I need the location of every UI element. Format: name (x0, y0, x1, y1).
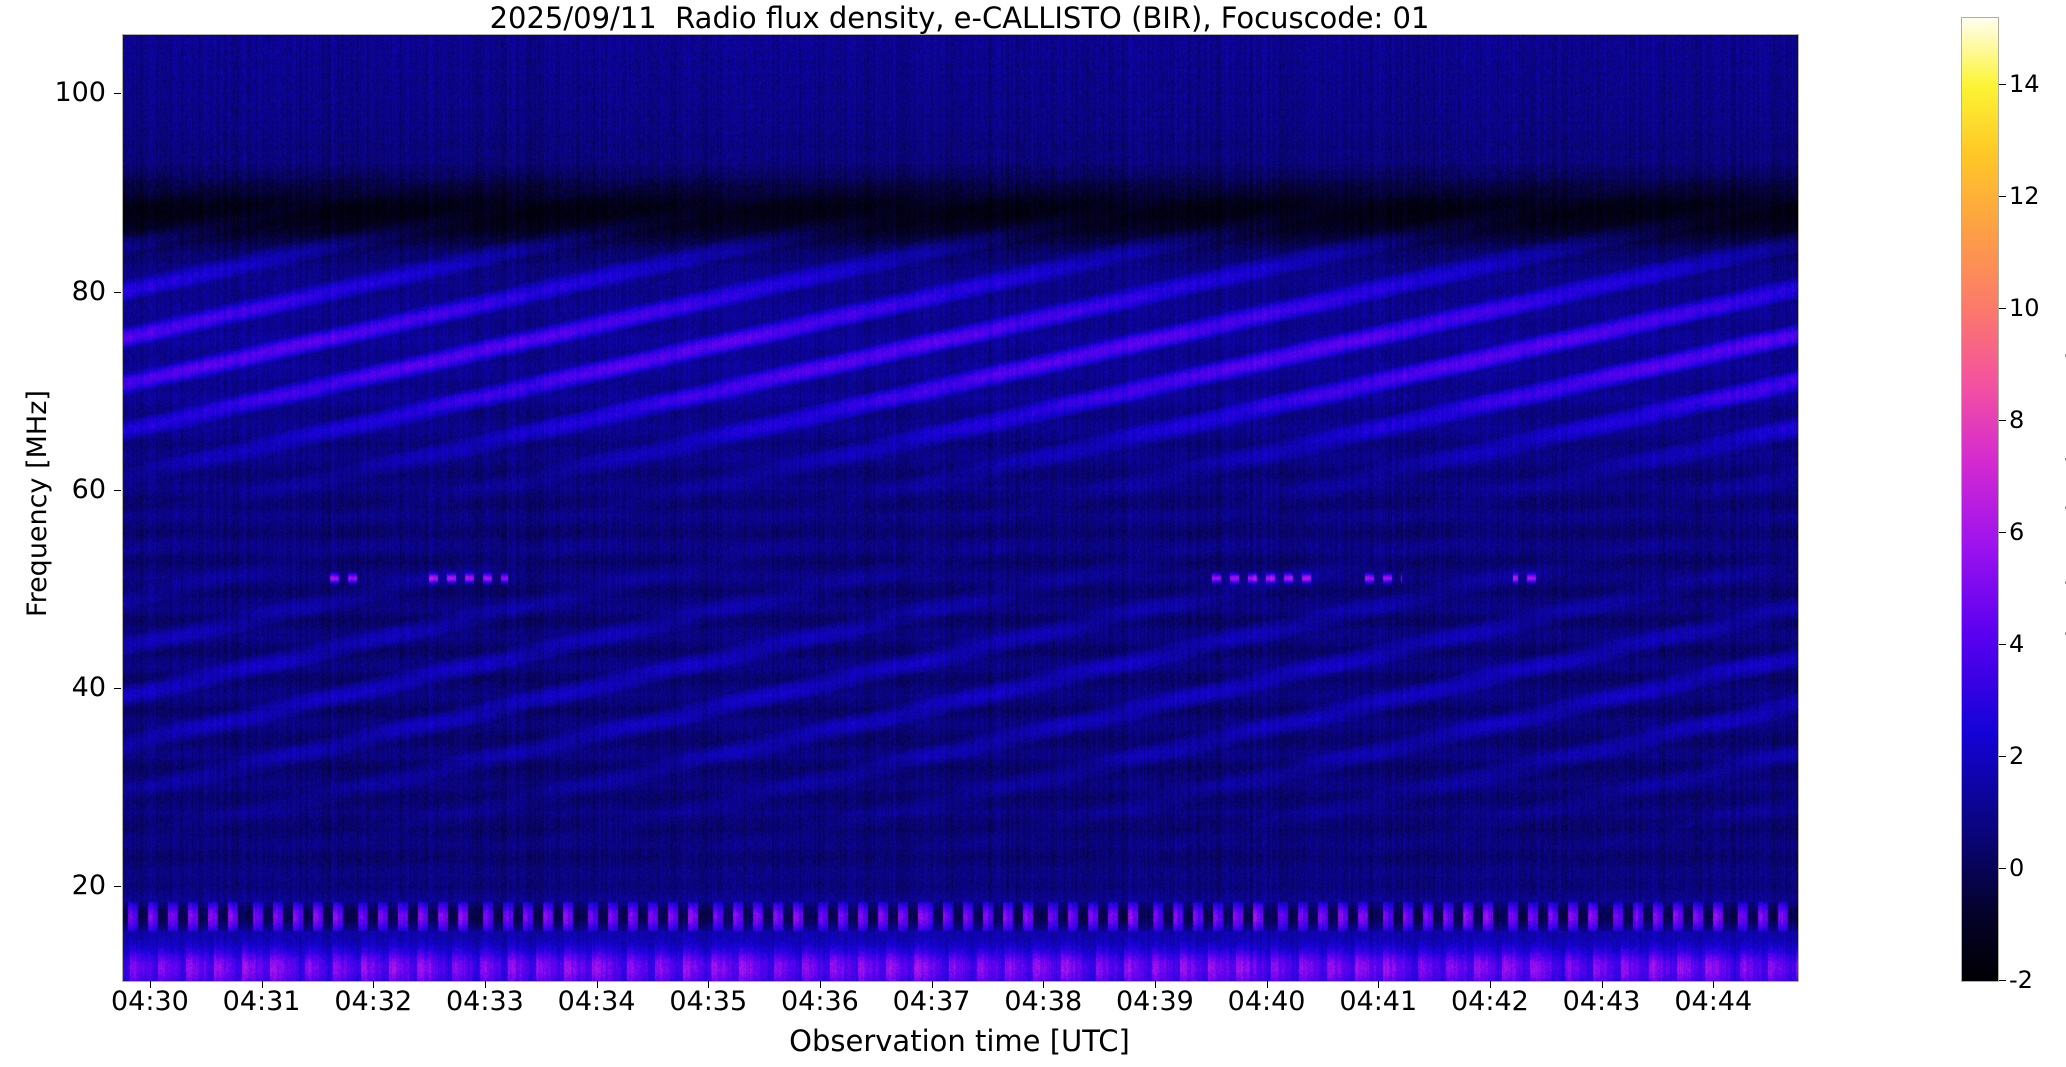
colorbar-tick-mark (1999, 196, 2006, 197)
colorbar-tick-mark (1999, 84, 2006, 85)
y-axis-tick-mark (114, 292, 121, 293)
colorbar-tick-mark (1999, 420, 2006, 421)
colorbar-tick-mark (1999, 532, 2006, 533)
colorbar-tick-label: 14 (2009, 72, 2040, 96)
y-axis-tick-mark (114, 93, 121, 94)
figure-canvas: 2025/09/11 Radio flux density, e-CALLIST… (0, 0, 2066, 1067)
colorbar-tick-label: 10 (2009, 296, 2040, 320)
colorbar-tick-mark (1999, 308, 2006, 309)
colorbar-tick-mark (1999, 644, 2006, 645)
colorbar-tick-label: -2 (2009, 968, 2033, 992)
y-axis-tick-label: 40 (40, 674, 106, 701)
y-axis-tick-label: 80 (40, 278, 106, 305)
colorbar-tick-label: 8 (2009, 408, 2024, 432)
x-axis-tick-label: 04:44 (1643, 988, 1783, 1016)
colorbar-tick-label: 4 (2009, 632, 2024, 656)
page-title: 2025/09/11 Radio flux density, e-CALLIST… (122, 2, 1797, 34)
y-axis-tick-mark (114, 688, 121, 689)
spectrogram-plot-area[interactable] (122, 34, 1799, 982)
y-axis-tick-mark (114, 490, 121, 491)
colorbar-gradient (1962, 18, 1998, 981)
y-axis-tick-label: 100 (40, 79, 106, 106)
y-axis-label: Frequency [MHz] (22, 390, 53, 617)
x-axis-label: Observation time [UTC] (122, 1024, 1797, 1058)
colorbar-tick-label: 0 (2009, 856, 2024, 880)
spectrogram-image[interactable] (123, 35, 1798, 981)
colorbar-area[interactable] (1961, 17, 1999, 982)
colorbar-tick-label: 2 (2009, 744, 2024, 768)
colorbar-tick-mark (1999, 980, 2006, 981)
y-axis-tick-label: 20 (40, 872, 106, 899)
colorbar-tick-label: 6 (2009, 520, 2024, 544)
colorbar-label: dB above background (2062, 351, 2066, 646)
y-axis-tick-label: 60 (40, 476, 106, 503)
colorbar-tick-mark (1999, 868, 2006, 869)
y-axis-tick-mark (114, 886, 121, 887)
colorbar-tick-mark (1999, 756, 2006, 757)
colorbar-tick-label: 12 (2009, 184, 2040, 208)
